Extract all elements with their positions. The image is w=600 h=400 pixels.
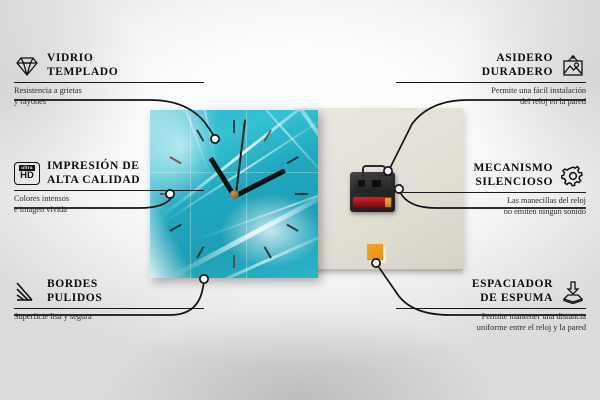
feature-title-line1: ASIDERO: [482, 52, 553, 66]
feature-title-line1: VIDRIO: [47, 52, 118, 66]
desc-line2: uniforme entre el reloj y la pared: [396, 323, 586, 334]
feature-title: ASIDERO DURADERO: [482, 52, 553, 79]
feature-title: BORDES PULIDOS: [47, 278, 102, 305]
foam-spacer-icon: [560, 280, 586, 304]
feature-title-line2: DE ESPUMA: [472, 292, 553, 306]
desc-line1: Superficie lisa y segura: [14, 312, 204, 323]
feature-description: Las manecillas del reloj no emiten ningú…: [396, 196, 586, 217]
feature-title-line2: DURADERO: [482, 66, 553, 80]
desc-line2: y rayones: [14, 97, 204, 108]
feature-bordes-pulidos: BORDES PULIDOS Superficie lisa y segura: [14, 278, 204, 323]
desc-line1: Colores intensos: [14, 194, 204, 205]
divider: [14, 190, 204, 191]
desc-line2: e imagen vívida: [14, 205, 204, 216]
callout-dot-asidero: [384, 167, 392, 175]
feature-description: Permite una fácil instalación del reloj …: [396, 86, 586, 107]
feature-description: Permite mantener una distancia uniforme …: [396, 312, 586, 333]
feature-title-line1: ESPACIADOR: [472, 278, 553, 292]
feature-title-line1: BORDES: [47, 278, 102, 292]
desc-line1: Las manecillas del reloj: [396, 196, 586, 207]
divider: [396, 192, 586, 193]
feature-title-line2: SILENCIOSO: [473, 176, 553, 190]
callout-dot-vidrio: [211, 135, 219, 143]
callout-dot-espaciador: [372, 259, 380, 267]
feature-description: Resistencia a grietas y rayones: [14, 86, 204, 107]
desc-line1: Resistencia a grietas: [14, 86, 204, 97]
desc-line2: del reloj en la pared: [396, 97, 586, 108]
gear-icon: [560, 164, 586, 188]
feature-espaciador-de-espuma: ESPACIADOR DE ESPUMA Permite mantener un…: [396, 278, 586, 333]
divider: [14, 308, 204, 309]
feature-impresion-alta-calidad: ultra HD IMPRESIÓN DE ALTA CALIDAD Color…: [14, 160, 204, 215]
divider: [396, 82, 586, 83]
feature-description: Superficie lisa y segura: [14, 312, 204, 323]
polished-edges-icon: [14, 280, 40, 304]
feature-asidero-duradero: ASIDERO DURADERO Permite una fácil insta…: [396, 52, 586, 107]
feature-title-line2: PULIDOS: [47, 292, 102, 306]
desc-line2: no emiten ningún sonido: [396, 207, 586, 218]
feature-title-line2: TEMPLADO: [47, 66, 118, 80]
feature-title-line2: ALTA CALIDAD: [47, 174, 140, 188]
ultra-hd-icon: ultra HD: [14, 162, 40, 186]
feature-title: MECANISMO SILENCIOSO: [473, 162, 553, 189]
feature-title: IMPRESIÓN DE ALTA CALIDAD: [47, 160, 140, 187]
feature-title-line1: IMPRESIÓN DE: [47, 160, 140, 174]
feature-description: Colores intensos e imagen vívida: [14, 194, 204, 215]
wall-frame-icon: [560, 54, 586, 78]
feature-title-line1: MECANISMO: [473, 162, 553, 176]
hd-label: HD: [20, 171, 34, 181]
divider: [396, 308, 586, 309]
feature-mecanismo-silencioso: MECANISMO SILENCIOSO Las manecillas del …: [396, 162, 586, 217]
desc-line1: Permite una fácil instalación: [396, 86, 586, 97]
desc-line1: Permite mantener una distancia: [396, 312, 586, 323]
feature-title: VIDRIO TEMPLADO: [47, 52, 118, 79]
divider: [14, 82, 204, 83]
feature-vidrio-templado: VIDRIO TEMPLADO Resistencia a grietas y …: [14, 52, 204, 107]
feature-title: ESPACIADOR DE ESPUMA: [472, 278, 553, 305]
diamond-icon: [14, 54, 40, 78]
infographic-canvas: VIDRIO TEMPLADO Resistencia a grietas y …: [0, 0, 600, 400]
